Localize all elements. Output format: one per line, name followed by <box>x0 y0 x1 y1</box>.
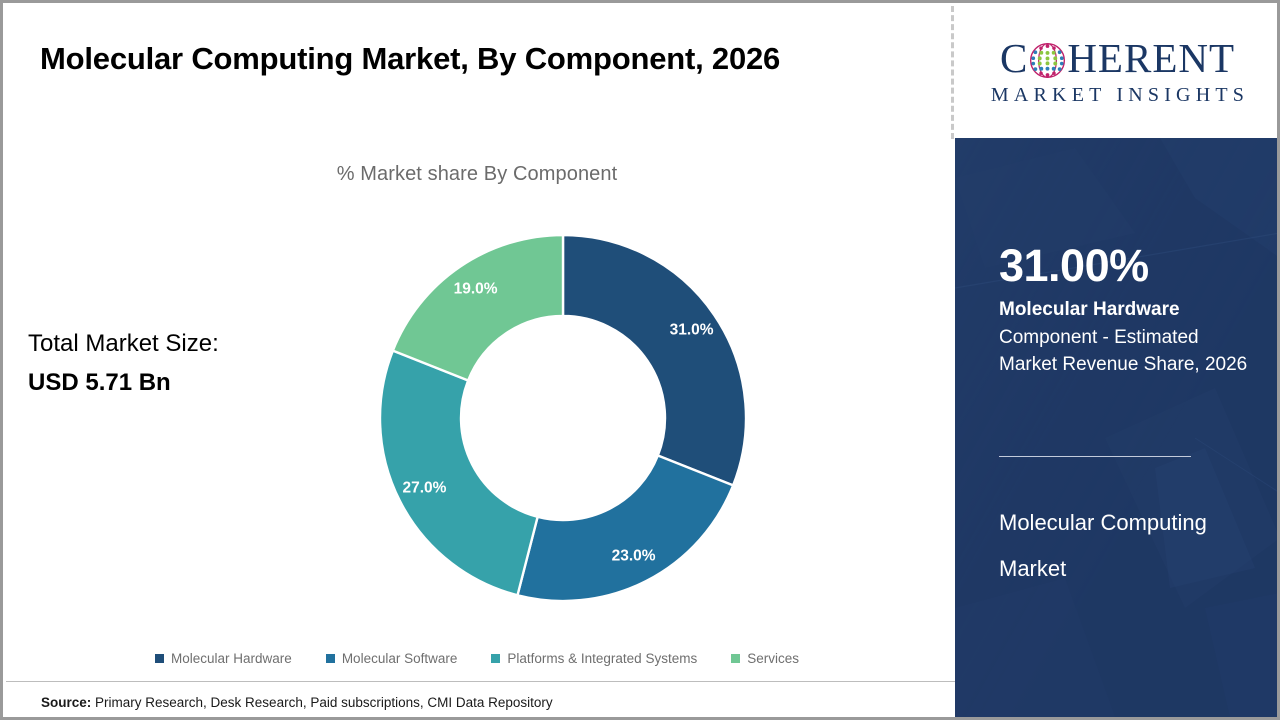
page-title: Molecular Computing Market, By Component… <box>40 35 880 83</box>
legend-swatch-icon <box>326 654 335 663</box>
right-panel-body: 31.00% Molecular Hardware Component - Es… <box>955 138 1280 717</box>
legend-item[interactable]: Services <box>731 651 799 666</box>
stat-percent-value: 31.00% <box>999 242 1249 289</box>
chart-legend: Molecular HardwareMolecular SoftwarePlat… <box>3 651 951 666</box>
brand-word-right: HERENT <box>1067 38 1235 79</box>
brand-logo-inner: C <box>975 38 1261 107</box>
brand-wordmark: C <box>975 38 1261 79</box>
donut-slice <box>517 456 733 601</box>
total-market-size: Total Market Size: USD 5.71 Bn <box>28 325 219 403</box>
legend-item-label: Molecular Software <box>342 651 458 666</box>
brand-tagline: MARKET INSIGHTS <box>975 84 1261 107</box>
source-line: Source: Primary Research, Desk Research,… <box>41 695 553 710</box>
donut-slice <box>563 235 746 485</box>
donut-slice-label: 27.0% <box>402 480 446 497</box>
chart-subtitle: % Market share By Component <box>3 163 951 186</box>
infographic-page: Molecular Computing Market, By Component… <box>0 0 1280 720</box>
legend-item[interactable]: Platforms & Integrated Systems <box>491 651 697 666</box>
donut-chart: 31.0%23.0%27.0%19.0% <box>378 233 748 603</box>
donut-slice <box>380 351 538 596</box>
source-label: Source: <box>41 695 91 710</box>
legend-item[interactable]: Molecular Hardware <box>155 651 292 666</box>
donut-slice-label: 31.0% <box>670 322 714 339</box>
brand-logo: C <box>955 6 1280 138</box>
total-market-size-label: Total Market Size: <box>28 325 219 364</box>
panel-dashed-divider <box>951 6 954 139</box>
donut-slice-group <box>380 235 746 601</box>
donut-slice <box>393 235 563 380</box>
stat-heading: Molecular Hardware <box>999 298 1249 323</box>
total-market-size-value: USD 5.71 Bn <box>28 364 219 403</box>
main-content-area: Molecular Computing Market, By Component… <box>3 3 951 717</box>
legend-swatch-icon <box>491 654 500 663</box>
legend-item-label: Molecular Hardware <box>171 651 292 666</box>
legend-swatch-icon <box>731 654 740 663</box>
panel-divider-rule <box>999 456 1191 457</box>
legend-item-label: Services <box>747 651 799 666</box>
panel-background-texture <box>955 138 1280 717</box>
source-text: Primary Research, Desk Research, Paid su… <box>91 695 552 710</box>
right-panel: C <box>955 3 1280 717</box>
panel-market-name: Molecular Computing Market <box>999 500 1239 591</box>
legend-swatch-icon <box>155 654 164 663</box>
donut-chart-svg: 31.0%23.0%27.0%19.0% <box>378 233 748 603</box>
legend-item-label: Platforms & Integrated Systems <box>507 651 697 666</box>
donut-slice-label: 23.0% <box>612 548 656 565</box>
donut-slice-label: 19.0% <box>454 280 498 297</box>
globe-dots-icon <box>1029 42 1066 79</box>
legend-item[interactable]: Molecular Software <box>326 651 458 666</box>
brand-word-left: C <box>1000 38 1028 79</box>
stat-block: 31.00% Molecular Hardware Component - Es… <box>999 242 1249 379</box>
stat-description: Component - Estimated Market Revenue Sha… <box>999 324 1249 379</box>
